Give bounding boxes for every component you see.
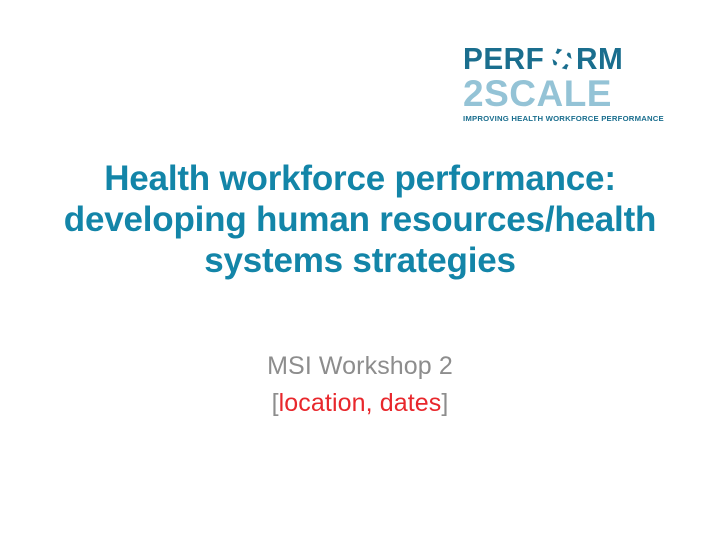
bracket-close: ] [441, 389, 448, 417]
title-line-3: systems strategies [24, 240, 696, 281]
subtitle-workshop: MSI Workshop 2 [60, 348, 660, 385]
logo-tagline: IMPROVING HEALTH WORKFORCE PERFORMANCE [463, 115, 638, 123]
slide-title: Health workforce performance: developing… [24, 158, 696, 281]
location-dates-placeholder: location, dates [279, 389, 442, 417]
slide-subtitle: MSI Workshop 2 [location, dates] [60, 348, 660, 422]
cycle-arrows-icon [549, 46, 575, 72]
bracket-open: [ [272, 389, 279, 417]
logo-perform-part1: PERF [463, 43, 544, 74]
title-line-2: developing human resources/health [24, 199, 696, 240]
perform2scale-logo: PERF RM 2SCALE IMPROVIN [463, 42, 635, 122]
title-line-1: Health workforce performance: [24, 158, 696, 199]
logo-wordmark-perform: PERF RM [463, 42, 635, 74]
presentation-slide: PERF RM 2SCALE IMPROVIN [0, 0, 720, 540]
subtitle-placeholder-line: [location, dates] [60, 385, 660, 422]
logo-wordmark-2scale: 2SCALE [463, 75, 635, 113]
logo-perform-part2: RM [576, 43, 623, 74]
